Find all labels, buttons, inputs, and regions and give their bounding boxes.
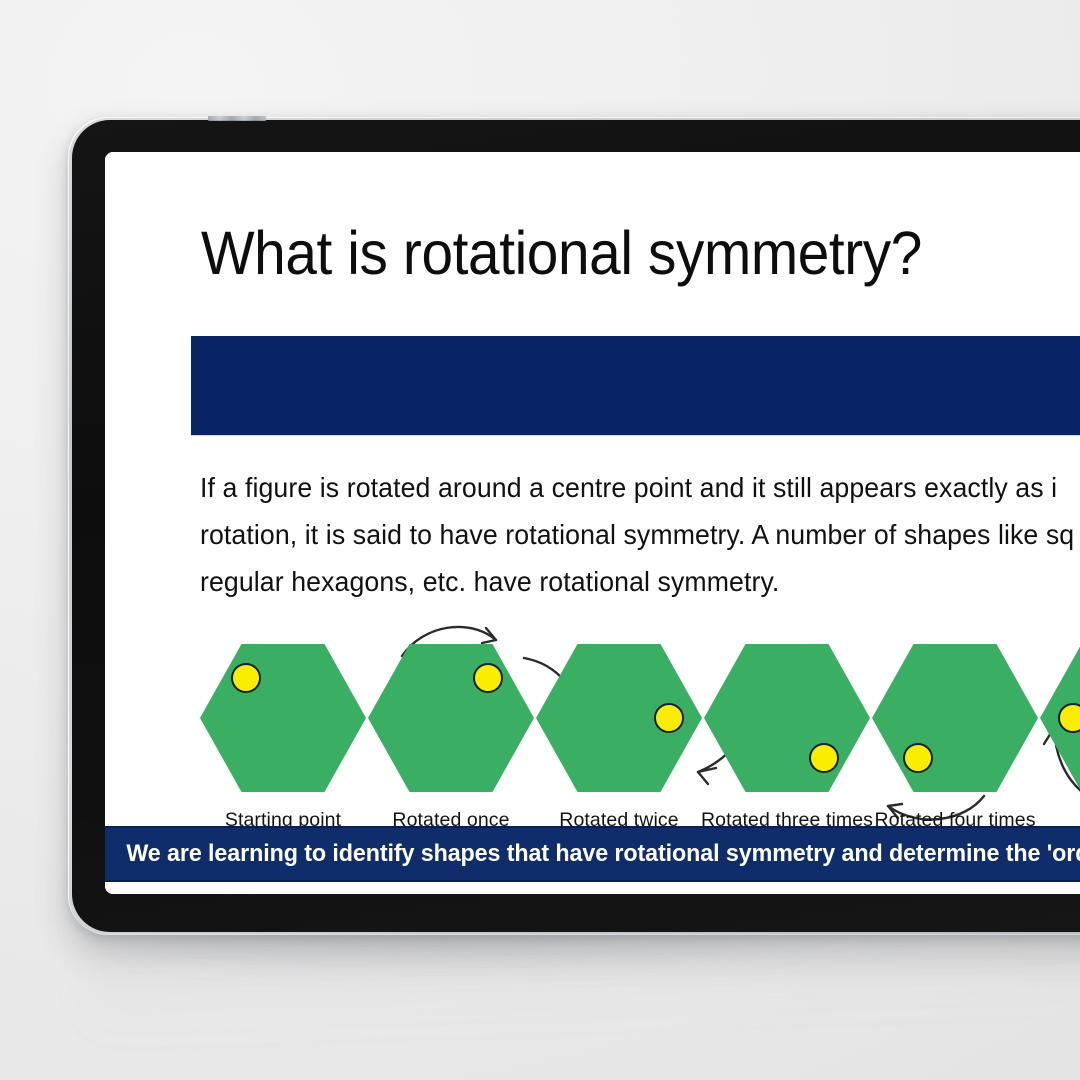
hexagon-wrapper <box>1040 644 1080 792</box>
hexagon-shape <box>200 644 366 792</box>
hexagon-wrapper <box>200 644 366 792</box>
hexagon-wrapper <box>368 644 534 792</box>
body-line-2: rotation, it is said to have rotational … <box>200 511 1080 558</box>
scene: What is rotational symmetry? If a figure… <box>0 0 1080 1080</box>
learning-objective-banner: We are learning to identify shapes that … <box>105 826 1080 882</box>
hexagon-shape <box>872 644 1038 792</box>
marker-dot <box>903 743 933 773</box>
marker-dot <box>1058 703 1080 733</box>
body-text: If a figure is rotated around a centre p… <box>200 464 1080 605</box>
marker-dot <box>473 663 503 693</box>
hexagon-shape <box>704 644 870 792</box>
body-line-3: regular hexagons, etc. have rotational s… <box>200 558 1080 605</box>
tablet-device: What is rotational symmetry? If a figure… <box>68 117 1080 935</box>
marker-dot <box>231 663 261 693</box>
presentation-slide: What is rotational symmetry? If a figure… <box>105 152 1080 894</box>
hexagon-wrapper <box>872 644 1038 792</box>
hexagon-wrapper <box>536 644 702 792</box>
body-line-1: If a figure is rotated around a centre p… <box>200 464 1080 511</box>
page-title: What is rotational symmetry? <box>201 218 1080 288</box>
marker-dot <box>654 703 684 733</box>
hexagon-shape <box>368 644 534 792</box>
marker-dot <box>809 743 839 773</box>
tablet-screen[interactable]: What is rotational symmetry? If a figure… <box>105 152 1080 894</box>
antenna-strip <box>208 116 266 121</box>
hexagon-wrapper <box>704 644 870 792</box>
learning-objective-text: We are learning to identify shapes that … <box>105 840 1080 868</box>
accent-bar <box>191 336 1080 435</box>
